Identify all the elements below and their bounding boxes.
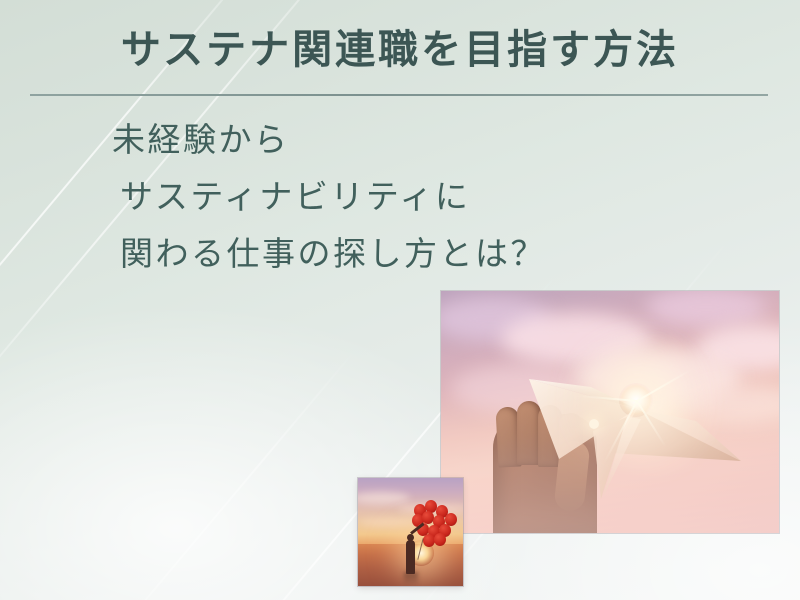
title-divider-rule <box>30 94 768 96</box>
balloon <box>434 533 446 546</box>
subtitle-line-3: 関わる仕事の探し方とは？ <box>112 226 546 283</box>
slide-canvas: サステナ関連職を目指す方法 未経験から サスティナビリティに 関わる仕事の探し方… <box>0 0 800 600</box>
atmospheric-haze <box>441 291 779 533</box>
slide-title: サステナ関連職を目指す方法 <box>0 26 800 74</box>
slide-subtitle-block: 未経験から サスティナビリティに 関わる仕事の探し方とは？ <box>112 112 546 282</box>
subtitle-line-1: 未経験から <box>112 112 546 169</box>
subtitle-line-2: サスティナビリティに <box>112 169 546 226</box>
light-streak <box>85 349 356 600</box>
water-reflection <box>404 572 418 586</box>
person-silhouette <box>406 540 415 574</box>
balloons-beach-photo <box>358 478 463 586</box>
red-balloon-cluster <box>412 500 458 542</box>
paper-plane-sunset-photo <box>441 291 779 533</box>
